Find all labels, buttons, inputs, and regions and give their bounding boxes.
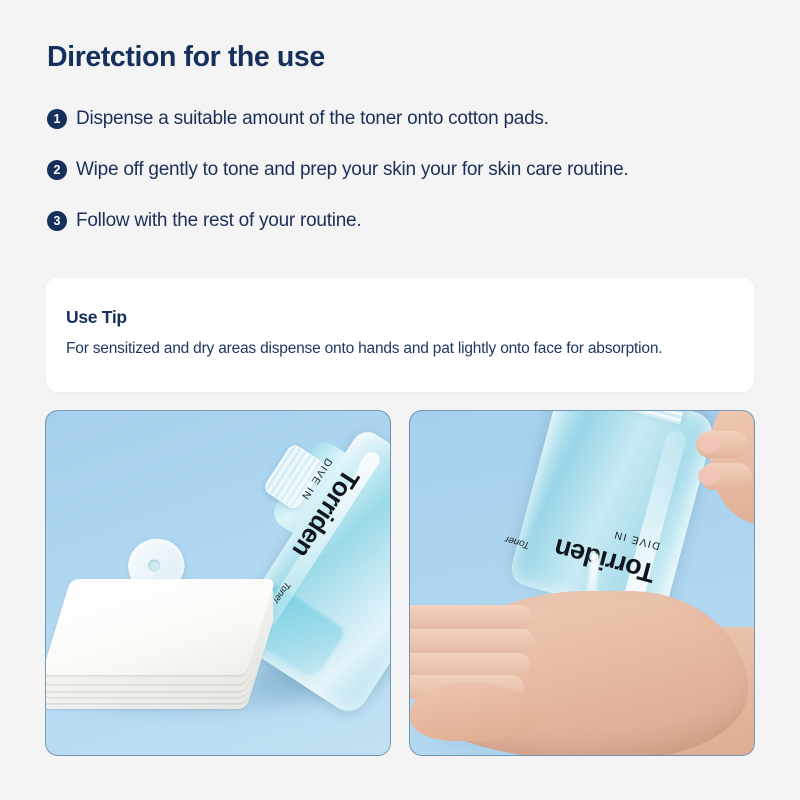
- step-text: Follow with the rest of your routine.: [76, 209, 361, 233]
- thumb: [410, 683, 540, 741]
- step-number-badge: 1: [47, 109, 67, 129]
- open-palm-hand: [409, 561, 755, 756]
- step-text: Dispense a suitable amount of the toner …: [76, 107, 549, 131]
- step-number-badge: 2: [47, 160, 67, 180]
- steps-list: 1 Dispense a suitable amount of the tone…: [47, 105, 767, 258]
- finger: [409, 629, 534, 653]
- cotton-pad: [45, 579, 276, 675]
- use-tip-body: For sensitized and dry areas dispense on…: [66, 340, 662, 358]
- directions-for-use-page: Diretction for the use 1 Dispense a suit…: [0, 0, 800, 800]
- product-photo-gallery: Torriden Toner DIVE IN: [45, 410, 755, 756]
- use-tip-title: Use Tip: [66, 307, 127, 328]
- list-item: 2 Wipe off gently to tone and prep your …: [47, 156, 767, 184]
- step-number-badge: 3: [47, 211, 67, 231]
- list-item: 3 Follow with the rest of your routine.: [47, 207, 767, 235]
- fingernail: [698, 467, 720, 485]
- finger: [409, 653, 530, 677]
- step-text: Wipe off gently to tone and prep your sk…: [76, 158, 628, 182]
- finger: [409, 605, 532, 629]
- fingernail: [698, 435, 720, 453]
- photo-toner-bottle-with-cotton-pads: Torriden Toner DIVE IN: [45, 410, 391, 756]
- use-tip-card: Use Tip For sensitized and dry areas dis…: [46, 278, 754, 392]
- photo-toner-poured-into-hand: Torriden Toner DIVE IN: [409, 410, 755, 756]
- holding-hand: [696, 410, 755, 543]
- cotton-pad-stack: [56, 579, 274, 711]
- product-type: Toner: [504, 533, 531, 550]
- list-item: 1 Dispense a suitable amount of the tone…: [47, 105, 767, 133]
- page-title: Diretction for the use: [47, 41, 325, 74]
